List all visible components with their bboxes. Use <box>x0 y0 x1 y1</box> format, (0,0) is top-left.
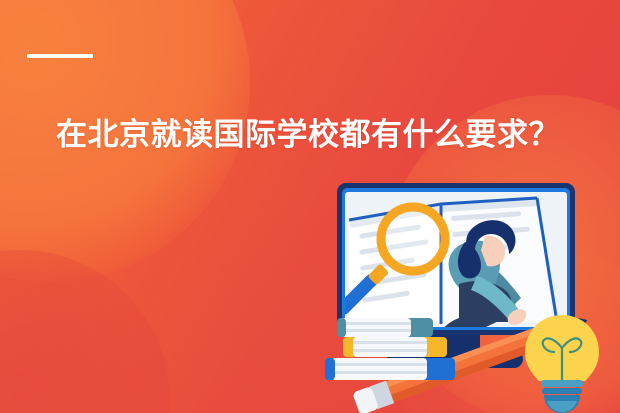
promo-banner: 在北京就读国际学校都有什么要求？ <box>0 0 620 413</box>
book-item-middle <box>343 337 447 357</box>
accent-rule <box>27 54 93 58</box>
book-item-bottom <box>325 358 455 380</box>
book-item-top <box>337 318 433 337</box>
lightbulb-icon <box>525 315 599 413</box>
hero-illustration <box>325 172 620 413</box>
background-blob-bottom-left <box>0 250 170 413</box>
page-title: 在北京就读国际学校都有什么要求？ <box>56 105 561 164</box>
